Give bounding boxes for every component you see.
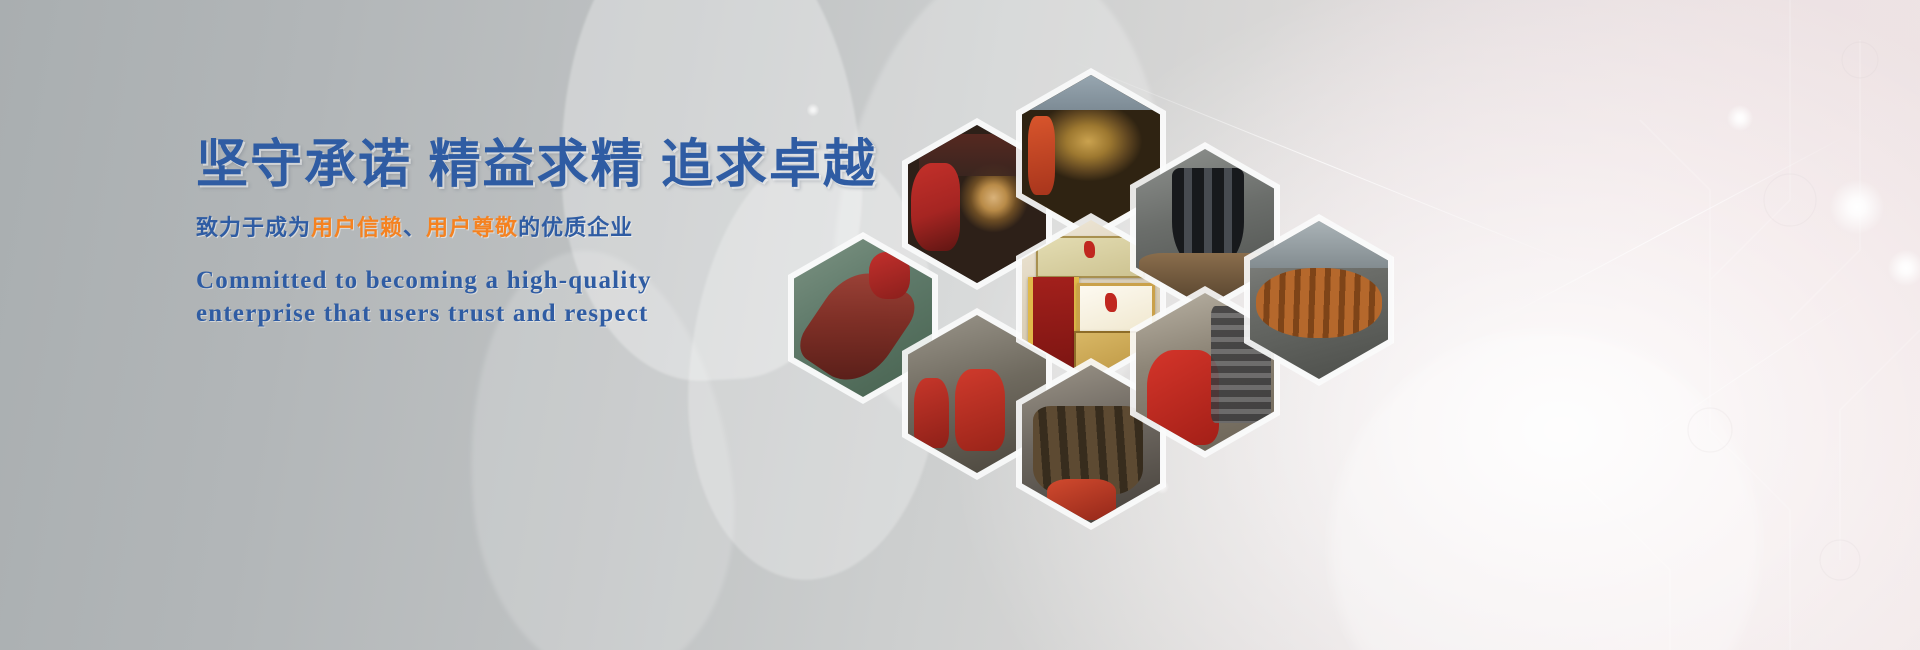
subtitle-separator: 、 bbox=[403, 215, 426, 240]
subtitle-highlight-respect: 用户尊敬 bbox=[426, 215, 518, 240]
banner-english-tagline: Committed to becoming a high-quality ent… bbox=[196, 264, 756, 330]
subtitle-highlight-trust: 用户信赖 bbox=[311, 215, 403, 240]
light-streak-2 bbox=[1480, 133, 1851, 331]
hero-banner: 坚守承诺 精益求精 追求卓越 致力于成为用户信赖、用户尊敬的优质企业 Commi… bbox=[0, 0, 1920, 650]
light-streak-3 bbox=[1600, 286, 1874, 471]
hex-copper-winding-image bbox=[1250, 221, 1388, 379]
circuit-trace-decoration bbox=[1460, 0, 1920, 650]
glow-dot-1 bbox=[1727, 105, 1753, 131]
glow-dot-3 bbox=[1888, 250, 1920, 286]
subtitle-prefix: 致力于成为 bbox=[196, 215, 311, 240]
hex-photo-cluster bbox=[770, 50, 1430, 510]
english-line-2: enterprise that users trust and respect bbox=[196, 297, 756, 330]
english-line-1: Committed to becoming a high-quality bbox=[196, 264, 756, 297]
glow-dot-2 bbox=[1830, 180, 1884, 234]
subtitle-suffix: 的优质企业 bbox=[518, 215, 633, 240]
